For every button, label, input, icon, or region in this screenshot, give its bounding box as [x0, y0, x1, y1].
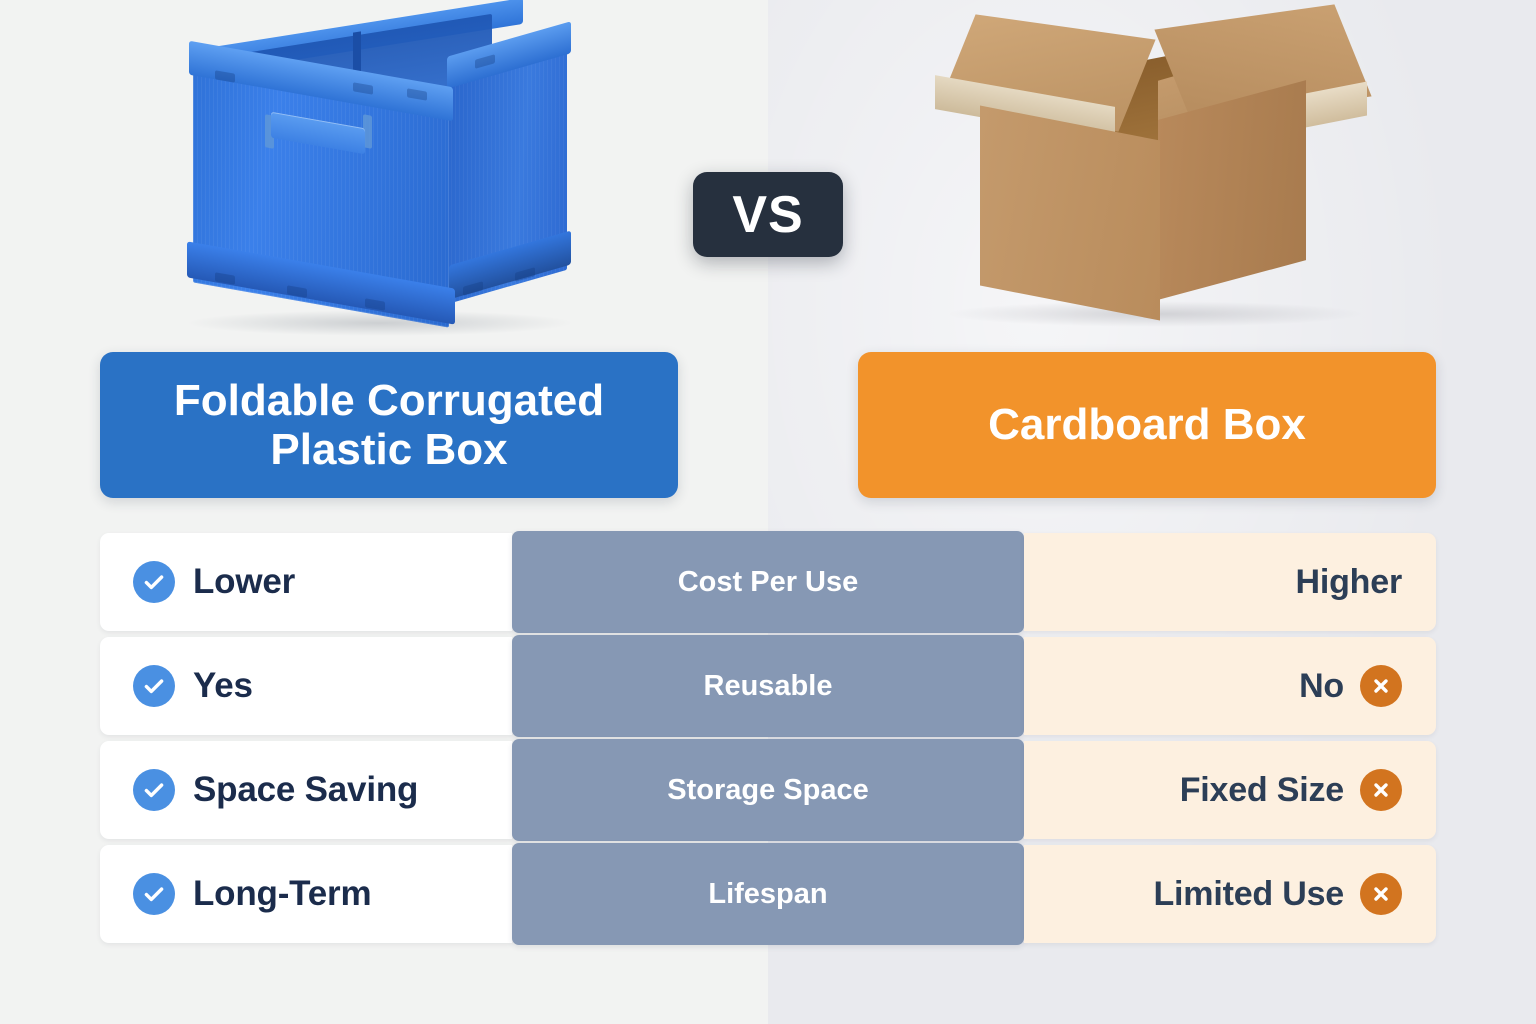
row-attribute-label: Cost Per Use [678, 566, 859, 599]
row-left-cell: Yes [100, 637, 512, 735]
cross-circle-icon [1360, 873, 1402, 915]
row-attribute-cell: Cost Per Use [512, 531, 1024, 633]
row-right-cell: Higher [1024, 533, 1436, 631]
row-right-value: No [1299, 667, 1344, 706]
product-title-right: Cardboard Box [858, 352, 1436, 498]
vs-badge: VS [693, 172, 843, 257]
product-title-left-label: Foldable Corrugated Plastic Box [118, 376, 660, 475]
check-circle-icon [133, 873, 175, 915]
cardboard-box-side-panel [1158, 80, 1306, 300]
comparison-table: Lower Cost Per Use Higher Yes Reusable N… [100, 533, 1436, 949]
check-circle-icon [133, 769, 175, 811]
table-row: Yes Reusable No [100, 637, 1436, 735]
row-left-cell: Lower [100, 533, 512, 631]
vs-label: VS [732, 189, 803, 241]
cardboard-box-front-panel [980, 106, 1160, 321]
row-right-cell: Limited Use [1024, 845, 1436, 943]
product-title-left: Foldable Corrugated Plastic Box [100, 352, 678, 498]
row-attribute-cell: Reusable [512, 635, 1024, 737]
row-left-value: Long-Term [193, 874, 371, 914]
row-attribute-cell: Storage Space [512, 739, 1024, 841]
row-right-value: Higher [1296, 563, 1402, 602]
product-title-right-label: Cardboard Box [988, 400, 1306, 449]
row-left-cell: Space Saving [100, 741, 512, 839]
check-circle-icon [133, 665, 175, 707]
row-left-value: Yes [193, 666, 253, 706]
plastic-box-image [175, 12, 575, 337]
row-right-value: Fixed Size [1180, 771, 1344, 810]
row-right-cell: Fixed Size [1024, 741, 1436, 839]
row-left-value: Lower [193, 562, 295, 602]
row-left-cell: Long-Term [100, 845, 512, 943]
row-attribute-cell: Lifespan [512, 843, 1024, 945]
table-row: Lower Cost Per Use Higher [100, 533, 1436, 631]
cardboard-box-image [905, 5, 1425, 335]
cross-circle-icon [1360, 665, 1402, 707]
row-right-cell: No [1024, 637, 1436, 735]
row-attribute-label: Reusable [704, 670, 833, 703]
check-circle-icon [133, 561, 175, 603]
row-left-value: Space Saving [193, 770, 418, 810]
row-attribute-label: Storage Space [667, 774, 868, 807]
table-row: Space Saving Storage Space Fixed Size [100, 741, 1436, 839]
row-right-value: Limited Use [1153, 875, 1344, 914]
row-attribute-label: Lifespan [708, 878, 827, 911]
table-row: Long-Term Lifespan Limited Use [100, 845, 1436, 943]
cross-circle-icon [1360, 769, 1402, 811]
